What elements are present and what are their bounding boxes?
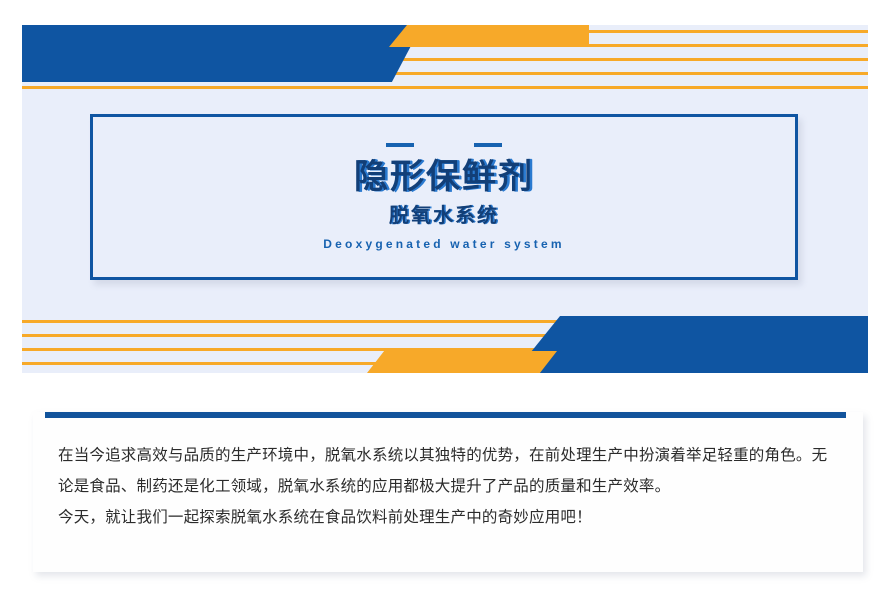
orange-stripe <box>22 86 868 89</box>
top-orange-block-decoration <box>389 25 589 47</box>
bottom-orange-block-decoration <box>367 351 557 373</box>
body-text-card: 在当今追求高效与品质的生产环境中，脱氧水系统以其独特的优势，在前处理生产中扮演着… <box>33 412 863 572</box>
title-dash-row <box>386 143 502 147</box>
title-dash-right-icon <box>474 143 502 147</box>
hero-banner: 隐形保鲜剂 脱氧水系统 Deoxygenated water system <box>22 25 868 373</box>
title-subtitle: 脱氧水系统 <box>389 199 499 228</box>
title-dash-left-icon <box>386 143 414 147</box>
body-card-accent-bar <box>45 412 846 418</box>
title-main: 隐形保鲜剂 <box>354 159 534 195</box>
body-paragraph: 在当今追求高效与品质的生产环境中，脱氧水系统以其独特的优势，在前处理生产中扮演着… <box>58 440 840 533</box>
title-card: 隐形保鲜剂 脱氧水系统 Deoxygenated water system <box>90 114 798 280</box>
bottom-blue-block-decoration <box>514 316 868 373</box>
top-blue-block-decoration <box>22 25 382 82</box>
title-english-subtitle: Deoxygenated water system <box>323 237 564 251</box>
